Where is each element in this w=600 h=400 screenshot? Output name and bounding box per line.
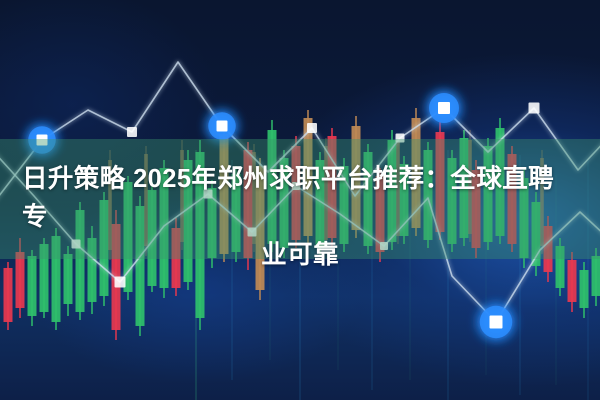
image-canvas: 日升策略 2025年郑州求职平台推荐：全球直聘专 业可靠 bbox=[0, 0, 600, 400]
headline-text: 日升策略 2025年郑州求职平台推荐：全球直聘专 业可靠 bbox=[0, 160, 600, 274]
headline-line-1: 日升策略 2025年郑州求职平台推荐：全球直聘专 bbox=[22, 160, 578, 236]
headline-line-2: 业可靠 bbox=[22, 236, 578, 274]
